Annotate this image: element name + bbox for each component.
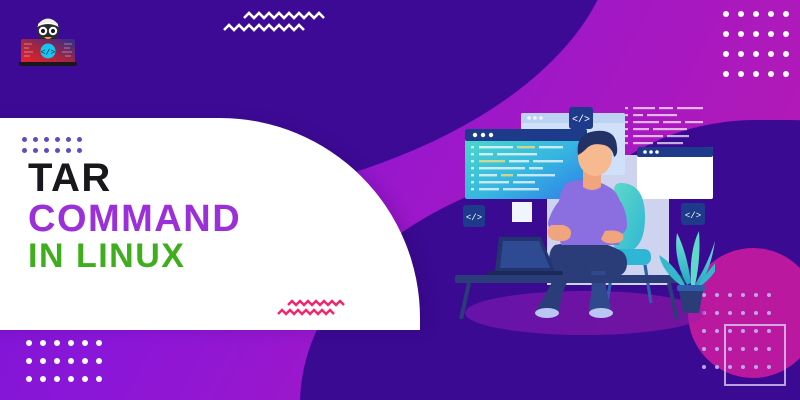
person-hand-right bbox=[601, 231, 623, 244]
headline-line-3: IN LINUX bbox=[28, 239, 241, 274]
dot-grid-top-right bbox=[723, 4, 798, 84]
page-title: TAR COMMAND IN LINUX bbox=[28, 158, 241, 274]
developer-at-desk-illustration: </> </> </> bbox=[455, 85, 715, 345]
logo-code-badge: </> bbox=[41, 49, 56, 58]
window-dot bbox=[473, 133, 477, 137]
window-dot bbox=[481, 133, 485, 137]
headline-line-2: COMMAND bbox=[28, 200, 241, 240]
svg-text:</>: </> bbox=[466, 213, 482, 223]
banner: </> TAR COMMAND IN LINUX bbox=[0, 0, 800, 400]
code-badge-left: </> bbox=[463, 205, 485, 227]
person-shoe-right bbox=[589, 308, 613, 318]
logo-penguin-icon bbox=[37, 18, 59, 42]
person-shoe-left bbox=[535, 308, 559, 318]
code-badge-right: </> bbox=[681, 203, 705, 225]
zigzag-white-decoration bbox=[222, 10, 328, 41]
window-dot bbox=[643, 150, 647, 154]
site-logo[interactable]: </> bbox=[18, 14, 78, 68]
square-outline-decoration bbox=[724, 324, 786, 386]
floor-shadow bbox=[465, 291, 705, 335]
white-window bbox=[637, 147, 713, 199]
dot-grid-headline bbox=[22, 134, 88, 156]
floating-code-lines bbox=[625, 107, 703, 144]
svg-text:</>: </> bbox=[572, 114, 590, 126]
headline-line-1: TAR bbox=[28, 158, 241, 200]
window-dot bbox=[649, 150, 653, 154]
dot-grid-bottom-left bbox=[26, 334, 110, 388]
svg-text:</>: </> bbox=[685, 211, 701, 221]
window-dot bbox=[655, 150, 659, 154]
code-badge-top: </> bbox=[569, 107, 593, 129]
window-dot bbox=[489, 133, 493, 137]
person-hand-left bbox=[547, 225, 571, 241]
logo-card-icon: </> bbox=[19, 39, 77, 66]
zigzag-pink-decoration bbox=[276, 298, 352, 325]
sticky-note bbox=[512, 202, 532, 222]
